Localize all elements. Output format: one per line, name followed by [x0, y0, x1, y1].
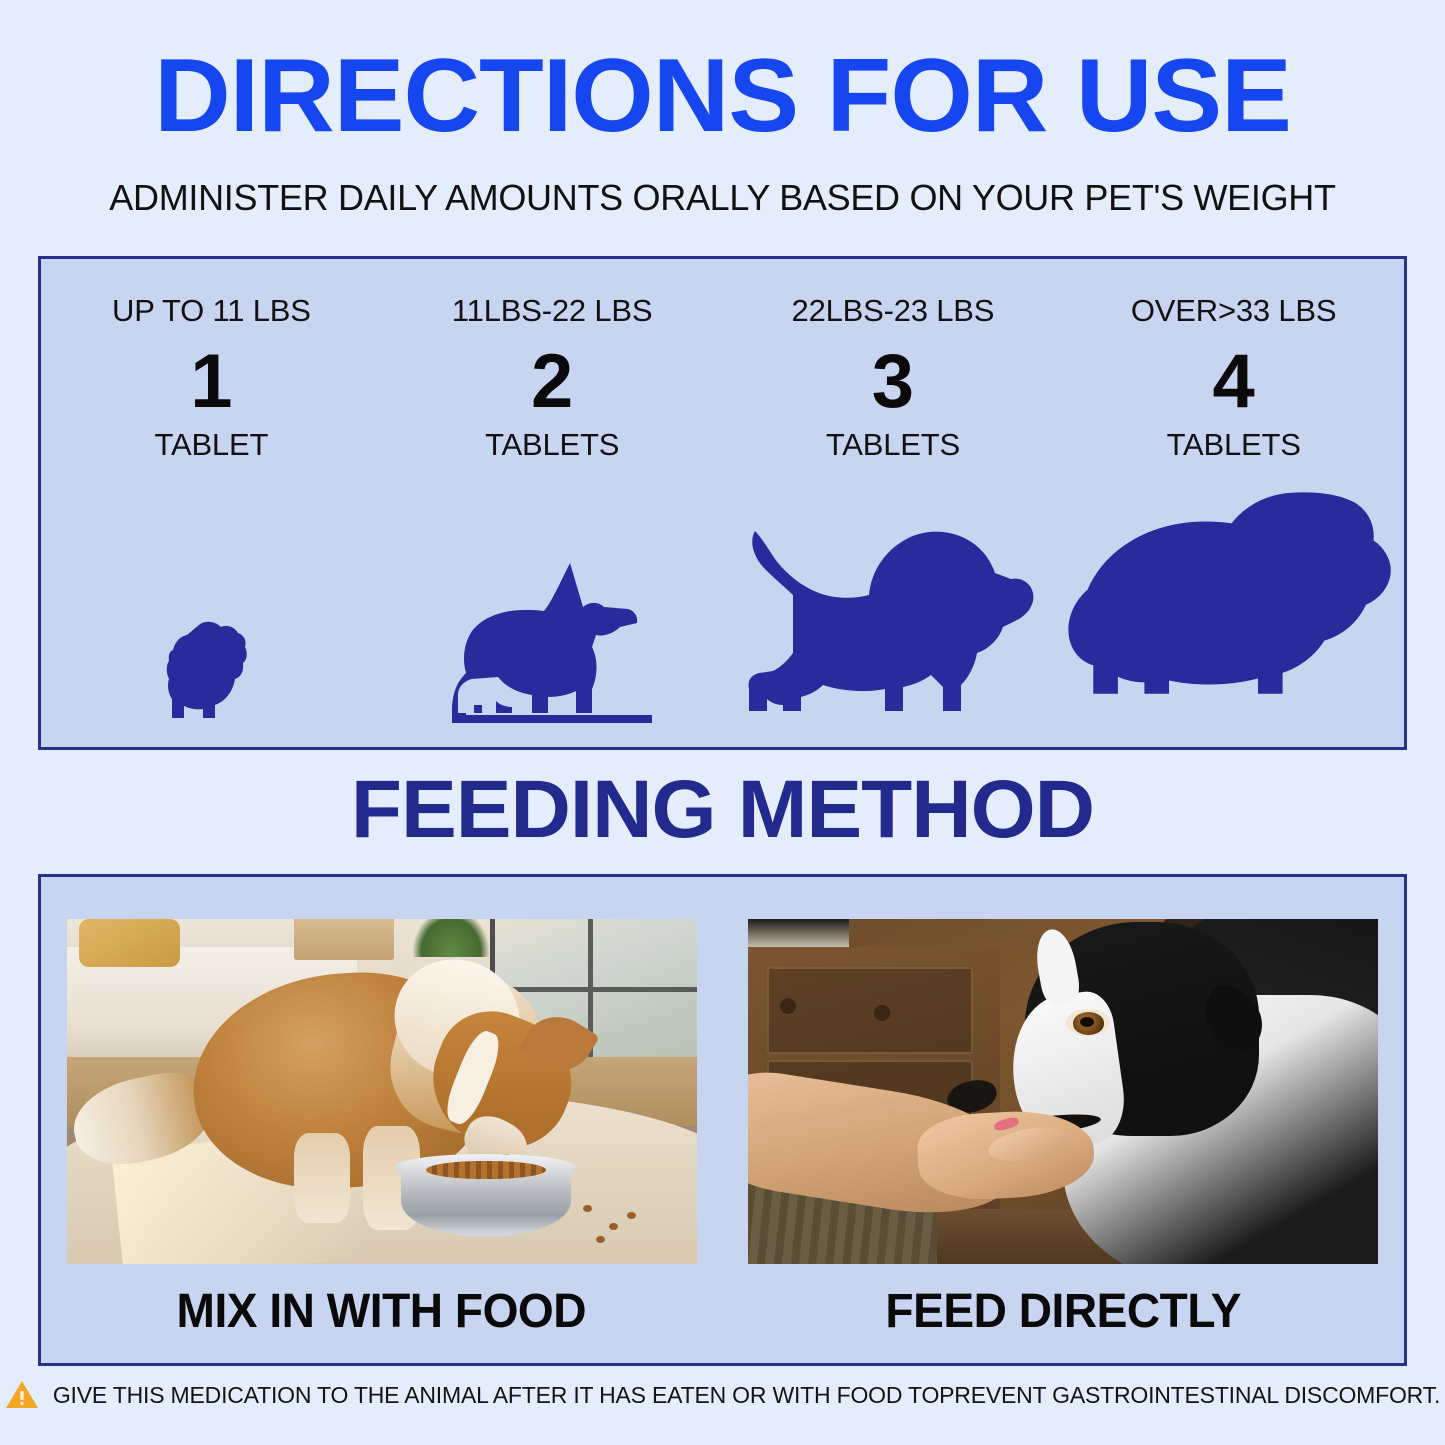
feeding-method-caption-1: MIX IN WITH FOOD	[177, 1286, 587, 1338]
dosage-weight-range-4: OVER>33 LBS	[1131, 294, 1336, 328]
throw-pillow	[79, 919, 180, 967]
dosage-column-3: 22LBS-23 LBS 3 TABLETS	[723, 259, 1064, 747]
dosage-tablet-unit-3: TABLETS	[826, 428, 960, 462]
warning-footer: GIVE THIS MEDICATION TO THE ANIMAL AFTER…	[0, 1380, 1445, 1410]
page-subtitle: ADMINISTER DAILY AMOUNTS ORALLY BASED ON…	[0, 178, 1445, 218]
dosage-tablet-count-2: 2	[531, 342, 573, 422]
dosage-tablet-count-3: 3	[872, 342, 914, 422]
dosage-weight-range-3: 22LBS-23 LBS	[792, 294, 995, 328]
side-table	[294, 919, 395, 960]
dosage-weight-range-1: UP TO 11 LBS	[112, 294, 311, 328]
dog-eating-from-bowl-photo	[67, 919, 697, 1264]
medium-dog-icon	[723, 515, 1064, 725]
directions-for-use-panel: DIRECTIONS FOR USE ADMINISTER DAILY AMOU…	[0, 0, 1445, 1445]
hand-feeding-dog-photo	[748, 919, 1378, 1264]
warning-text: GIVE THIS MEDICATION TO THE ANIMAL AFTER…	[53, 1382, 1440, 1408]
dresser-drawer	[767, 967, 973, 1054]
feeding-method-row: MIX IN WITH FOOD	[41, 919, 1404, 1338]
kibble-in-bowl	[426, 1161, 546, 1180]
dosage-tablet-count-1: 1	[190, 342, 232, 422]
drawer-knob	[780, 998, 796, 1014]
feeding-method-title: FEEDING METHOD	[0, 766, 1445, 854]
spilled-kibble	[609, 1223, 618, 1230]
dog-front-leg-1	[294, 1133, 351, 1223]
dosage-tablet-unit-2: TABLETS	[485, 428, 619, 462]
dosage-column-1: UP TO 11 LBS 1 TABLET	[41, 259, 382, 747]
feeding-method-2: FEED DIRECTLY	[748, 919, 1378, 1338]
dosage-column-2: 11LBS-22 LBS 2 TABLETS	[382, 259, 723, 747]
shelf-edge	[748, 919, 849, 947]
warning-triangle-icon	[5, 1380, 39, 1410]
feeding-method-caption-2: FEED DIRECTLY	[885, 1286, 1241, 1338]
page-title: DIRECTIONS FOR USE	[0, 44, 1445, 148]
dosage-column-4: OVER>33 LBS 4 TABLETS	[1063, 259, 1404, 747]
toy-dog-icon	[41, 605, 382, 725]
large-dog-icon	[1063, 475, 1404, 725]
dosage-chart-panel: UP TO 11 LBS 1 TABLET 11LBS-22 LBS 2 TAB…	[38, 256, 1407, 750]
small-dog-icon	[382, 555, 723, 725]
feeding-method-1: MIX IN WITH FOOD	[67, 919, 697, 1338]
dosage-weight-range-2: 11LBS-22 LBS	[452, 294, 652, 328]
dosage-tablet-unit-1: TABLET	[155, 428, 269, 462]
dosage-grid: UP TO 11 LBS 1 TABLET 11LBS-22 LBS 2 TAB…	[41, 259, 1404, 747]
dosage-tablet-unit-4: TABLETS	[1167, 428, 1301, 462]
dosage-tablet-count-4: 4	[1212, 342, 1254, 422]
house-plant	[413, 919, 489, 957]
feeding-method-panel: MIX IN WITH FOOD	[38, 874, 1407, 1366]
